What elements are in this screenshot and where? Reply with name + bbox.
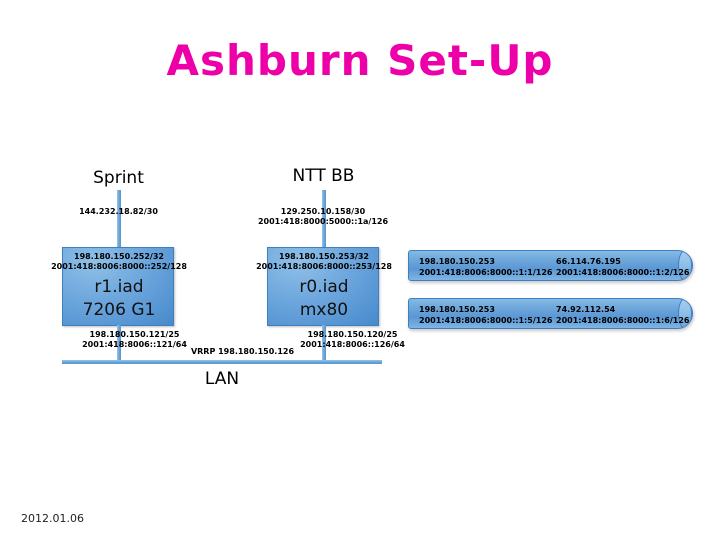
uplink-address-sprint: 144.232.18.82/30 <box>30 207 207 217</box>
page-title: Ashburn Set-Up <box>0 36 720 85</box>
provider-label-sprint: Sprint <box>62 168 175 188</box>
peering-link-cylinder-2[interactable]: 198.180.150.2532001:418:8006:8000::1:5/1… <box>408 298 693 329</box>
router-model-text-r0: mx80 <box>300 300 348 320</box>
router-node-r1-iad[interactable]: 198.180.150.252/322001:418:8006:8000::25… <box>62 247 174 326</box>
router-node-r0-iad[interactable]: 198.180.150.253/322001:418:8006:8000::25… <box>267 247 379 326</box>
router-hostname-text-r0: r0.iad <box>299 277 348 297</box>
router-loopback-address-r0: 198.180.150.253/322001:418:8006:8000::25… <box>238 252 410 272</box>
peering-remote-address-2: 74.92.112.542001:418:8006:8000::1:6/126 <box>556 304 689 326</box>
vrrp-label: VRRP 198.180.150.126 <box>130 347 355 356</box>
lan-bus-line <box>62 360 382 364</box>
uplink-connector-sprint <box>117 190 121 248</box>
lan-label: LAN <box>62 369 382 389</box>
peering-local-address-2: 198.180.150.2532001:418:8006:8000::1:5/1… <box>419 304 552 326</box>
peering-remote-address-1: 66.114.76.1952001:418:8006:8000::1:2/126 <box>556 256 689 278</box>
slide-canvas: Ashburn Set-Up Sprint NTT BB 144.232.18.… <box>0 0 720 540</box>
router-model-text-r1: 7206 G1 <box>83 300 156 320</box>
peering-local-address-1: 198.180.150.2532001:418:8006:8000::1:1/1… <box>419 256 552 278</box>
router-hostname-r1: r1.iad7206 G1 <box>63 276 175 322</box>
router-hostname-r0: r0.iadmx80 <box>268 276 380 322</box>
peering-link-cylinder-1[interactable]: 198.180.150.2532001:418:8006:8000::1:1/1… <box>408 250 693 281</box>
router-loopback-address-r1: 198.180.150.252/322001:418:8006:8000::25… <box>33 252 205 272</box>
uplink-address-ntt: 129.250.10.158/302001:418:8000:5000::1a/… <box>243 207 403 227</box>
footer-date: 2012.01.06 <box>21 512 84 525</box>
provider-label-ntt: NTT BB <box>267 166 380 186</box>
router-hostname-text-r1: r1.iad <box>94 277 143 297</box>
